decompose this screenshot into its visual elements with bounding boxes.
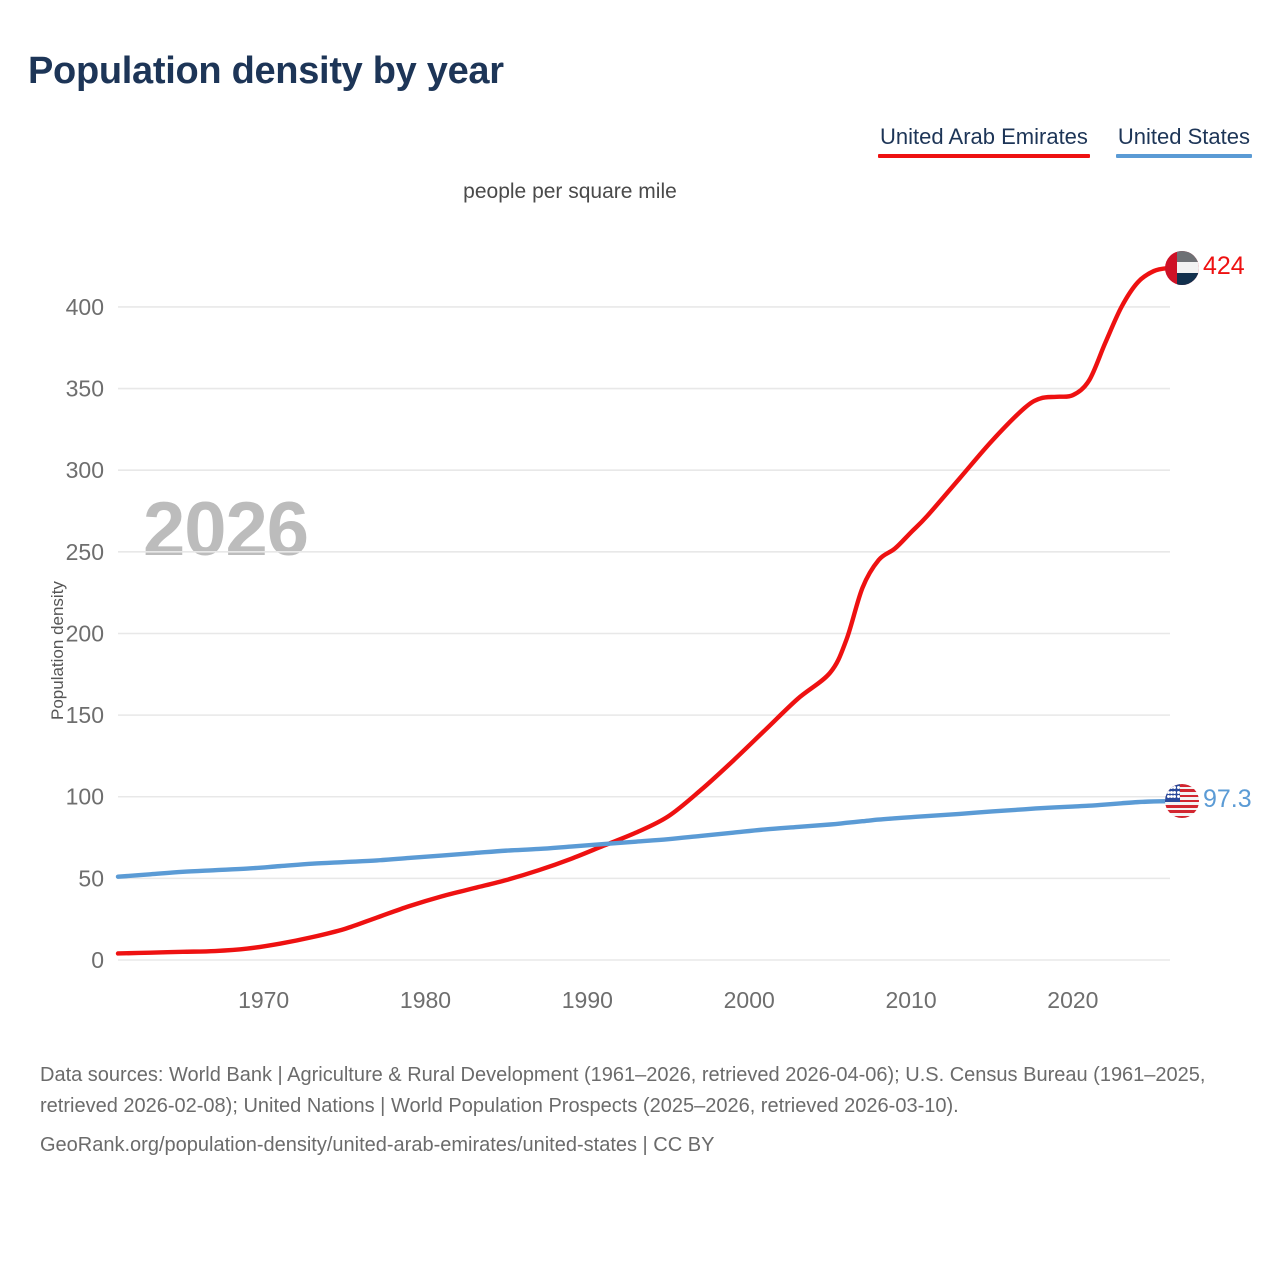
- legend-label-uae: United Arab Emirates: [878, 124, 1090, 154]
- us-flag-stripe: [1165, 805, 1199, 808]
- x-tick-label: 1970: [238, 987, 289, 1013]
- us-flag-star: [1177, 791, 1180, 794]
- x-tick-label: 2010: [885, 987, 936, 1013]
- y-tick-label: 150: [66, 702, 104, 728]
- uae-endpoint-value: 424: [1203, 252, 1245, 281]
- chart-svg: 0501001502002503003504001970198019902000…: [0, 230, 1280, 1040]
- us-flag-star: [1173, 791, 1176, 794]
- footer-url[interactable]: GeoRank.org/population-density/united-ar…: [40, 1130, 1230, 1161]
- us-flag-star: [1177, 786, 1180, 789]
- y-tick-label: 250: [66, 539, 104, 565]
- y-tick-label: 200: [66, 620, 104, 646]
- us-flag-star: [1177, 795, 1180, 798]
- x-tick-label: 2000: [724, 987, 775, 1013]
- us-flag-stripe: [1165, 810, 1199, 813]
- footer-data-sources: Data sources: World Bank | Agriculture &…: [40, 1060, 1230, 1122]
- legend-color-rule-uae: [878, 154, 1090, 158]
- us-flag-star: [1173, 795, 1176, 798]
- us-flag-canton: [1165, 784, 1180, 802]
- page-title: Population density by year: [28, 50, 504, 93]
- x-tick-label: 1990: [562, 987, 613, 1013]
- uae-flag-band-middle: [1177, 262, 1199, 273]
- us-flag-star: [1173, 786, 1176, 789]
- chart-plot-area: Population density 2026 0501001502002503…: [0, 230, 1280, 1040]
- x-tick-label: 1980: [400, 987, 451, 1013]
- y-tick-label: 0: [91, 947, 104, 973]
- us-flag-icon: [1165, 784, 1199, 818]
- series-line-us: [118, 801, 1170, 877]
- legend-label-us: United States: [1116, 124, 1252, 154]
- legend-item-united-states[interactable]: United States: [1116, 124, 1252, 158]
- x-tick-label: 2020: [1047, 987, 1098, 1013]
- y-tick-label: 50: [78, 865, 104, 891]
- y-tick-label: 350: [66, 376, 104, 402]
- uae-flag-band-top: [1177, 251, 1199, 262]
- uae-flag-band-bottom: [1177, 273, 1199, 284]
- legend-color-rule-us: [1116, 154, 1252, 158]
- series-line-uae: [118, 268, 1170, 954]
- chart-subtitle: people per square mile: [0, 180, 1280, 204]
- y-tick-label: 400: [66, 294, 104, 320]
- footer: Data sources: World Bank | Agriculture &…: [40, 1060, 1230, 1181]
- legend: United Arab Emirates United States: [878, 124, 1252, 158]
- y-tick-label: 100: [66, 784, 104, 810]
- y-tick-label: 300: [66, 457, 104, 483]
- uae-flag-icon: [1165, 251, 1199, 285]
- us-endpoint-value: 97.3: [1203, 785, 1252, 814]
- legend-item-united-arab-emirates[interactable]: United Arab Emirates: [878, 124, 1090, 158]
- us-flag-stripe: [1165, 816, 1199, 819]
